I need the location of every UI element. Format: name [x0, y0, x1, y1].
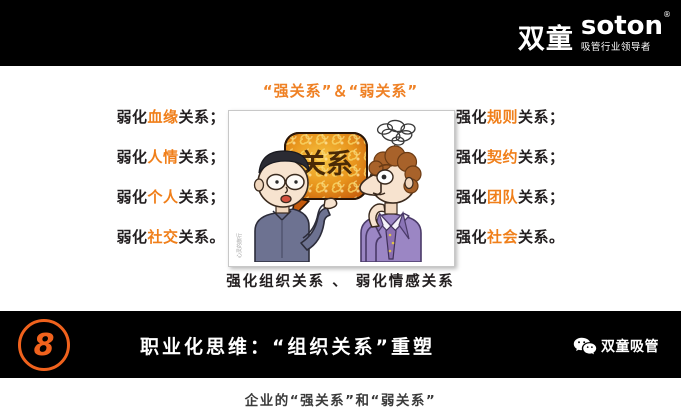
- weaken-relations-column: 弱化血缘关系； 弱化人情关系； 弱化个人关系； 弱化社交关系。: [25, 110, 225, 245]
- relation-prefix: 弱化: [116, 148, 147, 166]
- wechat-account[interactable]: 双童吸管: [573, 337, 659, 356]
- relation-line: 弱化社交关系。: [25, 230, 225, 245]
- relation-prefix: 强化: [456, 148, 487, 166]
- relation-line: 弱化个人关系；: [25, 190, 225, 205]
- relation-suffix: 关系。: [518, 228, 565, 246]
- logo-chinese-name: 双童: [518, 26, 574, 53]
- footer-bar: 8 职业化思维：“组织关系”重塑 双童吸管: [0, 311, 681, 378]
- slide-number-badge: 8: [18, 319, 70, 371]
- relation-prefix: 强化: [456, 108, 487, 126]
- slide-body: “强关系”＆“弱关系” 弱化血缘关系； 弱化人情关系； 弱化个人关系； 弱化社交…: [0, 66, 681, 311]
- header-bar: 双童 soton ® 吸管行业领导者: [0, 0, 681, 66]
- cartoon-canvas: 关系: [233, 115, 450, 262]
- brand-logo: 双童 soton ® 吸管行业领导者: [518, 13, 663, 53]
- relation-keyword: 个人: [147, 188, 178, 206]
- relation-suffix: 关系。: [178, 228, 225, 246]
- cartoon-illustration: 关系: [228, 110, 455, 267]
- slide-title: “强关系”＆“弱关系”: [0, 80, 681, 101]
- slide-caption: 强化组织关系 、 弱化情感关系: [0, 270, 681, 291]
- relation-suffix: 关系；: [518, 148, 565, 166]
- relation-keyword: 社会: [487, 228, 518, 246]
- logo-latin-wrap: soton ®: [581, 13, 663, 39]
- relation-prefix: 弱化: [116, 228, 147, 246]
- relation-keyword: 团队: [487, 188, 518, 206]
- cartoon-scene: 关系: [233, 115, 450, 262]
- relation-line: 强化契约关系；: [456, 150, 656, 165]
- logo-tagline: 吸管行业领导者: [581, 43, 651, 53]
- relation-keyword: 规则: [487, 108, 518, 126]
- relation-keyword: 契约: [487, 148, 518, 166]
- relation-suffix: 关系；: [518, 108, 565, 126]
- relation-line: 弱化血缘关系；: [25, 110, 225, 125]
- relation-prefix: 强化: [456, 188, 487, 206]
- wechat-icon: [573, 337, 597, 356]
- relation-keyword: 人情: [147, 148, 178, 166]
- relation-suffix: 关系；: [178, 188, 225, 206]
- logo-latin-name: soton: [581, 11, 663, 41]
- registered-trademark-icon: ®: [663, 11, 671, 19]
- bottom-strip: 企业的“强关系”和“弱关系”: [0, 378, 681, 420]
- footer-title: 职业化思维：“组织关系”重塑: [140, 332, 435, 359]
- relation-line: 强化社会关系。: [456, 230, 656, 245]
- bottom-caption: 企业的“强关系”和“弱关系”: [0, 389, 681, 409]
- relation-prefix: 弱化: [116, 108, 147, 126]
- relation-suffix: 关系；: [178, 108, 225, 126]
- relation-line: 强化团队关系；: [456, 190, 656, 205]
- relation-prefix: 强化: [456, 228, 487, 246]
- relation-line: 强化规则关系；: [456, 110, 656, 125]
- relation-line: 弱化人情关系；: [25, 150, 225, 165]
- relation-keyword: 社交: [147, 228, 178, 246]
- relation-suffix: 关系；: [518, 188, 565, 206]
- cartoon-watermark: 心灵的旅行: [236, 233, 243, 258]
- relation-prefix: 弱化: [116, 188, 147, 206]
- strengthen-relations-column: 强化规则关系； 强化契约关系； 强化团队关系； 强化社会关系。: [456, 110, 656, 245]
- logo-latin-group: soton ® 吸管行业领导者: [581, 13, 663, 53]
- relation-suffix: 关系；: [178, 148, 225, 166]
- wechat-label: 双童吸管: [601, 340, 659, 354]
- relation-keyword: 血缘: [147, 108, 178, 126]
